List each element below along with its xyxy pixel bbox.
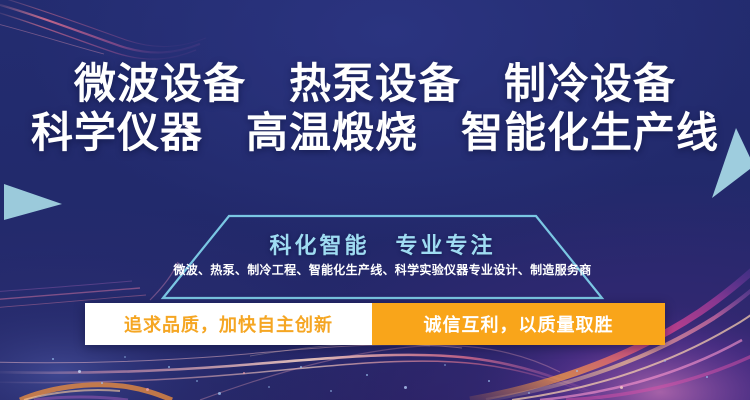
headline-line-1: 微波设备 热泵设备 制冷设备 xyxy=(0,62,750,107)
promo-banner: 微波设备 热泵设备 制冷设备 科学仪器 高温煅烧 智能化生产线 科化智能专业专注… xyxy=(0,0,750,400)
panel-slogan-a: 科化智能 xyxy=(269,233,369,258)
slogan-right-text: 诚信互利，以质量取胜 xyxy=(424,311,614,337)
slogan-left-segment: 追求品质，加快自主创新 xyxy=(85,303,372,345)
bottom-slogan-bar: 追求品质，加快自主创新 诚信互利，以质量取胜 xyxy=(85,303,665,345)
slogan-left-text: 追求品质，加快自主创新 xyxy=(124,311,333,337)
panel-slogan-row: 科化智能专业专注 xyxy=(155,228,610,260)
slogan-right-segment: 诚信互利，以质量取胜 xyxy=(372,303,665,345)
panel-subtitle: 微波、热泵、制冷工程、智能化生产线、科学实验仪器专业设计、制造服务商 xyxy=(155,261,610,278)
left-triangle-arrow-icon xyxy=(0,178,66,222)
panel-slogan-b: 专业专注 xyxy=(396,233,496,258)
page-title: 微波设备 热泵设备 制冷设备 科学仪器 高温煅烧 智能化生产线 xyxy=(0,62,750,156)
slogan-panel: 科化智能专业专注 微波、热泵、制冷工程、智能化生产线、科学实验仪器专业设计、制造… xyxy=(155,208,610,300)
headline-line-2: 科学仪器 高温煅烧 智能化生产线 xyxy=(0,111,750,156)
